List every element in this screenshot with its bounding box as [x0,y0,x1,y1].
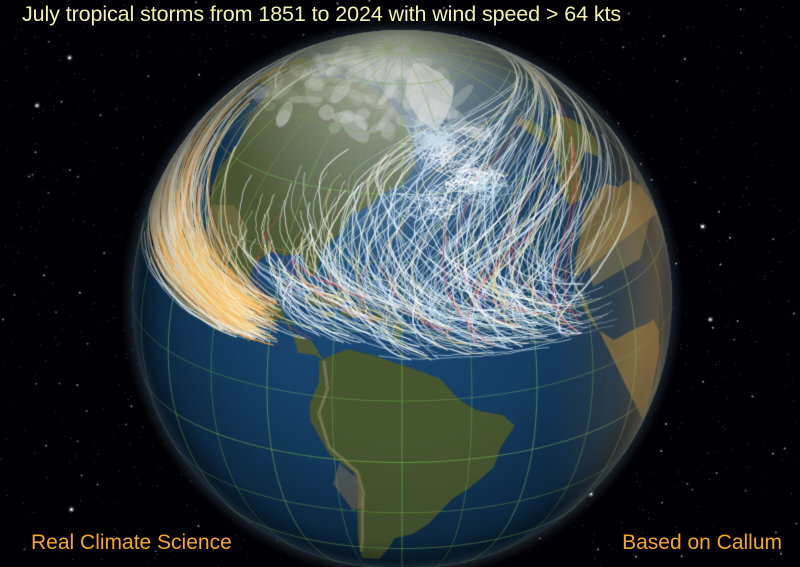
globe-with-storm-tracks [0,0,800,567]
page-title: July tropical storms from 1851 to 2024 w… [22,2,621,27]
storm-track-visualization: July tropical storms from 1851 to 2024 w… [0,0,800,567]
credit-right-label: Based on Callum [622,531,782,555]
credit-left-label: Real Climate Science [31,531,232,555]
